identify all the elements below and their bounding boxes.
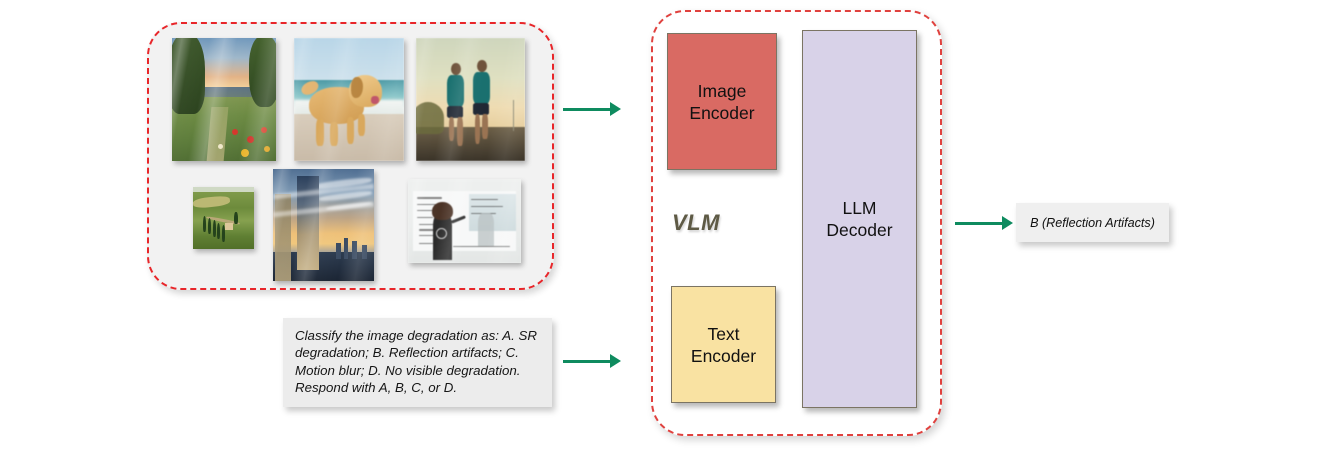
arrow-images-to-vlm-icon <box>563 102 621 116</box>
text-encoder-label: Text Encoder <box>691 323 756 367</box>
text-prompt-box[interactable]: Classify the image degradation as: A. SR… <box>283 318 552 407</box>
model-output-label: B (Reflection Artifacts) <box>1030 216 1155 230</box>
image-encoder-block[interactable]: Image Encoder <box>667 33 777 170</box>
photo-whiteboard-person <box>408 179 521 263</box>
photo-two-runners <box>416 38 525 161</box>
model-output-box: B (Reflection Artifacts) <box>1016 203 1169 242</box>
diagram-canvas: Classify the image degradation as: A. SR… <box>0 0 1319 461</box>
arrow-prompt-to-vlm-icon <box>563 354 621 368</box>
photo-tuscan-countryside <box>193 187 254 249</box>
llm-decoder-block[interactable]: LLM Decoder <box>802 30 917 408</box>
arrow-vlm-to-output-icon <box>955 216 1013 230</box>
image-encoder-label: Image Encoder <box>689 80 754 124</box>
photo-meadow-sunset <box>172 38 276 161</box>
photo-golden-retriever-beach <box>294 38 404 161</box>
photo-skyscraper-sunset <box>273 169 374 281</box>
text-encoder-block[interactable]: Text Encoder <box>671 286 776 403</box>
vlm-label: VLM <box>672 210 720 236</box>
text-prompt-content: Classify the image degradation as: A. SR… <box>295 327 540 397</box>
llm-decoder-label: LLM Decoder <box>826 197 892 241</box>
